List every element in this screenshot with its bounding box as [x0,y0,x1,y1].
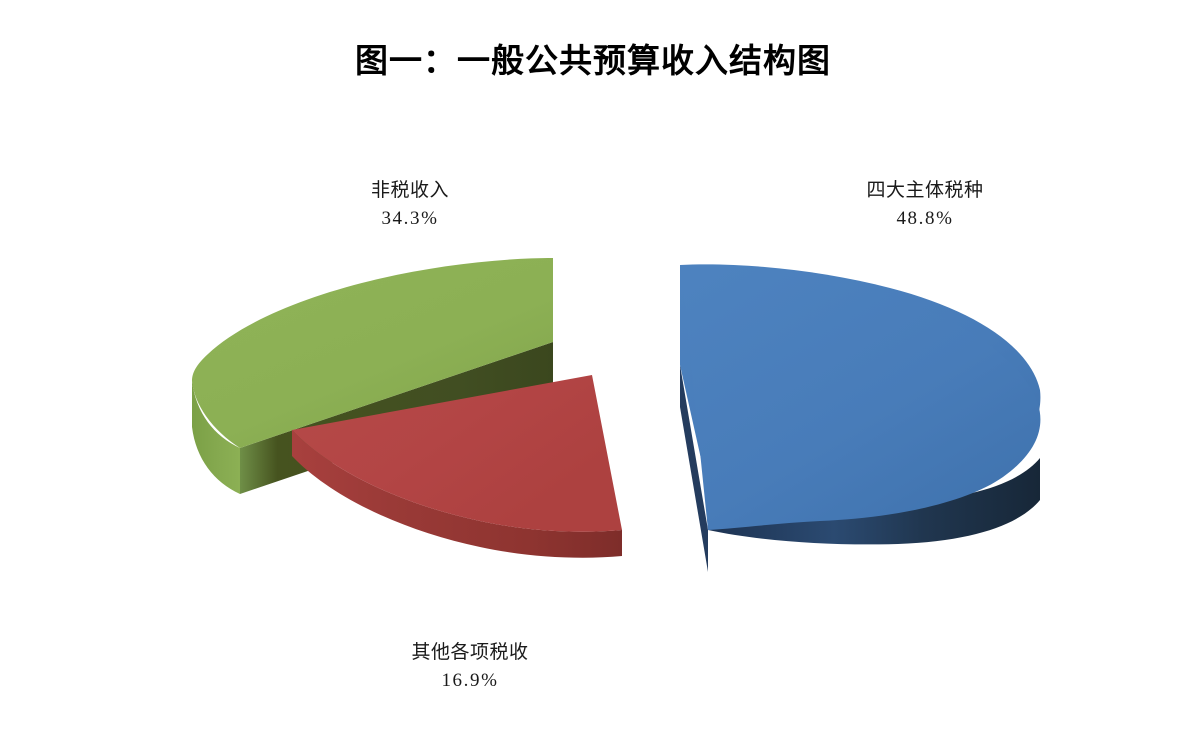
pie-label-four-main-taxes-name: 四大主体税种 [790,178,1060,203]
pie-label-other-taxes: 其他各项税收 16.9% [335,640,605,693]
pie-chart-3d [0,0,1186,745]
pie-label-other-taxes-value: 16.9% [335,668,605,693]
pie-label-four-main-taxes: 四大主体税种 48.8% [790,178,1060,231]
pie-slice-four-main-taxes[interactable] [680,264,1040,572]
pie-label-nontax: 非税收入 34.3% [275,178,545,231]
pie-label-nontax-name: 非税收入 [275,178,545,203]
chart-page: 图一：一般公共预算收入结构图 [0,0,1186,745]
pie-label-other-taxes-name: 其他各项税收 [335,640,605,665]
pie-label-four-main-taxes-value: 48.8% [790,206,1060,231]
pie-label-nontax-value: 34.3% [275,206,545,231]
